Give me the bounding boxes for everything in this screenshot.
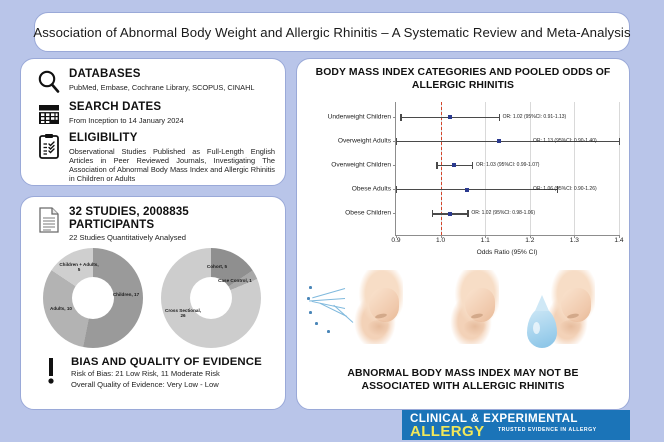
studies-heading: 32 STUDIES, 2008835 PARTICIPANTS xyxy=(69,205,275,231)
donut-label-children: Children, 17 xyxy=(103,292,149,297)
forest-row: Obese AdultsOR: 1.06 (95%CI: 0.90-1.26) xyxy=(396,189,619,190)
reference-line xyxy=(441,102,442,235)
forest-plot-card: BODY MASS INDEX CATEGORIES AND POOLED OD… xyxy=(296,58,630,410)
point-estimate-marker xyxy=(452,163,456,167)
bias-summary: BIAS AND QUALITY OF EVIDENCE Risk of Bia… xyxy=(31,356,275,390)
odds-ratio-annotation: OR: 1.03 (95%CI: 0.99-1.07) xyxy=(476,162,540,168)
forest-row-label: Obese Children xyxy=(345,210,391,217)
donut-label-cross-sectional: Cross Sectional, 26 xyxy=(163,308,203,319)
bias-line-2: Overall Quality of Evidence: Very Low - … xyxy=(71,380,275,390)
x-axis-tickmark xyxy=(396,235,397,238)
ci-cap-right xyxy=(467,210,468,217)
forest-row-label: Obese Adults xyxy=(352,186,391,193)
methods-row-search-dates: SEARCH DATES From Inception to 14 Januar… xyxy=(31,101,275,126)
odds-ratio-annotation: OR: 1.02 (95%CI: 0.91-1.13) xyxy=(503,114,567,120)
y-axis-tickmark xyxy=(393,189,396,190)
y-axis-tickmark xyxy=(393,141,396,142)
x-axis-tick: 1.1 xyxy=(481,237,490,244)
title-card: Association of Abnormal Body Weight and … xyxy=(34,12,630,52)
nose-shadow-2 xyxy=(463,320,487,336)
x-axis-tickmark xyxy=(619,235,620,238)
results-card: 32 STUDIES, 2008835 PARTICIPANTS 22 Stud… xyxy=(20,196,286,410)
ci-cap-left xyxy=(396,138,397,145)
logo-tagline: TRUSTED EVIDENCE IN ALLERGY xyxy=(498,427,597,433)
databases-text: PubMed, Embase, Cochrane Library, SCOPUS… xyxy=(69,83,275,92)
point-estimate-marker xyxy=(448,115,452,119)
donut-label-children-adults: Children + Adults, 5 xyxy=(59,262,99,273)
nose-shadow-3 xyxy=(559,320,583,336)
x-axis-tickmark xyxy=(574,235,575,238)
journal-logo: CLINICAL & EXPERIMENTAL ALLERGY TRUSTED … xyxy=(402,410,630,440)
x-axis-tickmark xyxy=(485,235,486,238)
nose-shadow-1 xyxy=(367,320,391,336)
odds-ratio-annotation: OR: 1.13 (95%CI: 0.90-1.40) xyxy=(533,138,597,144)
x-axis-tickmark xyxy=(530,235,531,238)
ci-cap-right xyxy=(472,162,473,169)
odds-ratio-annotation: OR: 1.02 (95%CI: 0.98-1.06) xyxy=(471,210,535,216)
x-axis-tick: 1.0 xyxy=(436,237,445,244)
y-axis-tickmark xyxy=(393,165,396,166)
conclusion-text: ABNORMAL BODY MASS INDEX MAY NOT BE ASSO… xyxy=(303,368,623,393)
point-estimate-marker xyxy=(465,188,469,192)
donut-charts: Children, 17 Adults, 10 Children + Adult… xyxy=(31,242,275,350)
search-dates-text: From Inception to 14 January 2024 xyxy=(69,116,275,125)
forest-row: Obese ChildrenOR: 1.02 (95%CI: 0.98-1.06… xyxy=(396,213,619,214)
magnifier-icon xyxy=(31,68,67,95)
conclusion-line-1: ABNORMAL BODY MASS INDEX MAY NOT BE xyxy=(303,368,623,381)
x-axis-tick: 1.2 xyxy=(525,237,534,244)
bias-line-1: Risk of Bias: 21 Low Risk, 11 Moderate R… xyxy=(71,369,275,379)
point-estimate-marker xyxy=(497,139,501,143)
bias-heading: BIAS AND QUALITY OF EVIDENCE xyxy=(71,356,275,368)
studies-summary: 32 STUDIES, 2008835 PARTICIPANTS 22 Stud… xyxy=(31,205,275,242)
search-dates-heading: SEARCH DATES xyxy=(69,101,275,114)
forest-row-label: Overweight Children xyxy=(331,161,391,168)
nose-illustrations xyxy=(303,262,623,366)
forest-row: Underweight ChildrenOR: 1.02 (95%CI: 0.9… xyxy=(396,117,619,118)
nose-pollen xyxy=(339,262,411,354)
donut-label-cohort: Cohort, 5 xyxy=(197,264,237,269)
x-axis-label: Odds Ratio (95% CI) xyxy=(395,249,619,256)
grid-line xyxy=(574,102,575,235)
ci-cap-left xyxy=(436,162,437,169)
forest-row: Overweight ChildrenOR: 1.03 (95%CI: 0.99… xyxy=(396,165,619,166)
databases-heading: DATABASES xyxy=(69,68,275,81)
y-axis-tickmark xyxy=(393,213,396,214)
conclusion-line-2: ASSOCIATED WITH ALLERGIC RHINITIS xyxy=(303,381,623,394)
logo-line-2: ALLERGY xyxy=(410,423,484,440)
exclamation-icon xyxy=(33,356,69,386)
forest-row-label: Underweight Children xyxy=(328,113,391,120)
clipboard-icon xyxy=(31,132,67,159)
ci-cap-right xyxy=(499,114,500,121)
donut-chart-population: Children, 17 Adults, 10 Children + Adult… xyxy=(35,246,153,350)
nose-droplet xyxy=(531,262,603,354)
forest-row-label: Overweight Adults xyxy=(338,137,391,144)
grid-line xyxy=(619,102,620,235)
forest-plot-area: 0.91.01.11.21.31.4Underweight ChildrenOR… xyxy=(395,102,619,236)
methods-card: DATABASES PubMed, Embase, Cochrane Libra… xyxy=(20,58,286,186)
page-title: Association of Abnormal Body Weight and … xyxy=(33,25,630,40)
x-axis-tick: 1.3 xyxy=(570,237,579,244)
x-axis-tickmark xyxy=(441,235,442,238)
calendar-icon xyxy=(31,101,67,126)
methods-row-databases: DATABASES PubMed, Embase, Cochrane Libra… xyxy=(31,68,275,95)
document-icon xyxy=(31,205,67,234)
eligibility-heading: ELIGIBILITY xyxy=(69,132,275,145)
forest-plot: 0.91.01.11.21.31.4Underweight ChildrenOR… xyxy=(303,98,625,258)
methods-row-eligibility: ELIGIBILITY Observational Studies Publis… xyxy=(31,132,275,184)
studies-subtext: 22 Studies Quantitatively Analysed xyxy=(69,233,275,242)
y-axis-tickmark xyxy=(393,117,396,118)
eligibility-text: Observational Studies Published as Full-… xyxy=(69,147,275,184)
donut-label-adults: Adults, 10 xyxy=(41,306,81,311)
x-axis-tick: 1.4 xyxy=(614,237,623,244)
ci-cap-right xyxy=(619,138,620,145)
forest-plot-title: BODY MASS INDEX CATEGORIES AND POOLED OD… xyxy=(303,67,623,92)
x-axis-tick: 0.9 xyxy=(391,237,400,244)
point-estimate-marker xyxy=(448,212,452,216)
odds-ratio-annotation: OR: 1.06 (95%CI: 0.90-1.26) xyxy=(533,186,597,192)
ci-cap-left xyxy=(432,210,433,217)
donut-label-case-control: Case Control, 1 xyxy=(217,278,253,283)
ci-cap-left xyxy=(400,114,401,121)
nose-plain xyxy=(435,262,507,354)
ci-cap-left xyxy=(396,186,397,193)
donut-ring-design xyxy=(161,248,261,348)
donut-chart-design: Cohort, 5 Case Control, 1 Cross Sectiona… xyxy=(153,246,271,350)
forest-row: Overweight AdultsOR: 1.13 (95%CI: 0.90-1… xyxy=(396,141,619,142)
